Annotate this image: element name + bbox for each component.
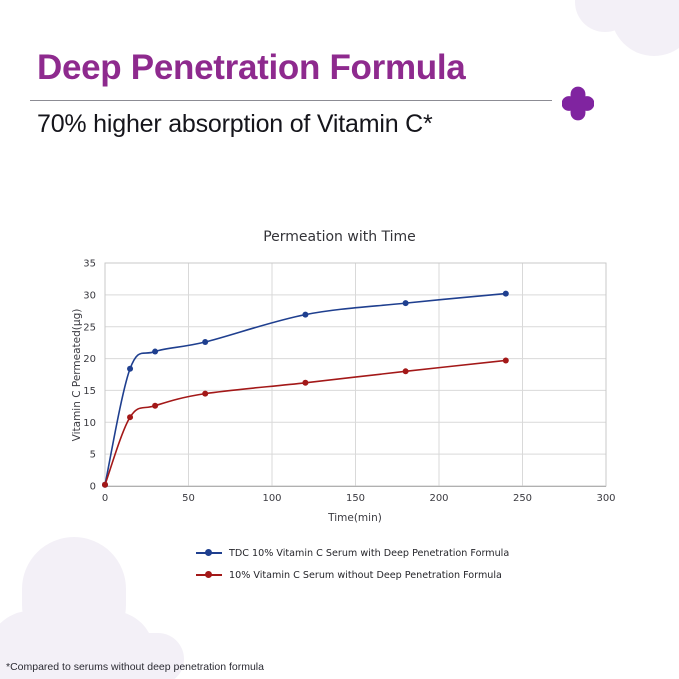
- y-tick-30: 30: [83, 290, 96, 301]
- data-point-s0-i3[interactable]: [202, 339, 208, 345]
- y-tick-0: 0: [90, 482, 96, 493]
- x-tick-0: 0: [102, 493, 108, 504]
- chart-legend: TDC 10% Vitamin C Serum with Deep Penetr…: [196, 542, 596, 586]
- data-point-s1-i0[interactable]: [102, 482, 108, 488]
- x-axis-tick-labels: 050100150200250300: [102, 493, 616, 504]
- data-point-s0-i4[interactable]: [302, 312, 308, 318]
- y-tick-20: 20: [83, 354, 96, 365]
- legend-label-series-0: TDC 10% Vitamin C Serum with Deep Penetr…: [229, 548, 509, 559]
- x-tick-250: 250: [513, 493, 532, 504]
- data-point-s1-i2[interactable]: [152, 403, 158, 409]
- y-axis-title: Vitamin C Permeated(µg): [71, 309, 83, 442]
- data-point-s1-i3[interactable]: [202, 391, 208, 397]
- y-tick-5: 5: [90, 450, 96, 461]
- data-point-s1-i5[interactable]: [403, 368, 409, 374]
- x-tick-200: 200: [429, 493, 448, 504]
- legend-item-0[interactable]: TDC 10% Vitamin C Serum with Deep Penetr…: [196, 542, 596, 564]
- x-tick-300: 300: [596, 493, 615, 504]
- data-point-s1-i4[interactable]: [302, 380, 308, 386]
- y-tick-10: 10: [83, 418, 96, 429]
- legend-marker-series-1: [196, 570, 222, 580]
- legend-marker-series-0: [196, 548, 222, 558]
- x-tick-150: 150: [346, 493, 365, 504]
- x-axis-title: Time(min): [327, 512, 382, 524]
- data-point-s0-i2[interactable]: [152, 349, 158, 355]
- permeation-chart: Permeation with Time 05101520253035 0501…: [0, 0, 679, 679]
- footnote: *Compared to serums without deep penetra…: [6, 661, 264, 673]
- data-point-s1-i6[interactable]: [503, 357, 509, 363]
- y-tick-25: 25: [83, 322, 96, 333]
- y-axis-tick-labels: 05101520253035: [83, 259, 96, 493]
- x-tick-100: 100: [262, 493, 281, 504]
- data-point-s1-i1[interactable]: [127, 414, 133, 420]
- legend-label-series-1: 10% Vitamin C Serum without Deep Penetra…: [229, 570, 502, 581]
- x-tick-50: 50: [182, 493, 195, 504]
- y-tick-35: 35: [83, 259, 96, 270]
- data-point-s0-i5[interactable]: [403, 300, 409, 306]
- legend-item-1[interactable]: 10% Vitamin C Serum without Deep Penetra…: [196, 564, 596, 586]
- data-point-s0-i1[interactable]: [127, 366, 133, 372]
- data-point-s0-i6[interactable]: [503, 291, 509, 297]
- y-tick-15: 15: [83, 386, 96, 397]
